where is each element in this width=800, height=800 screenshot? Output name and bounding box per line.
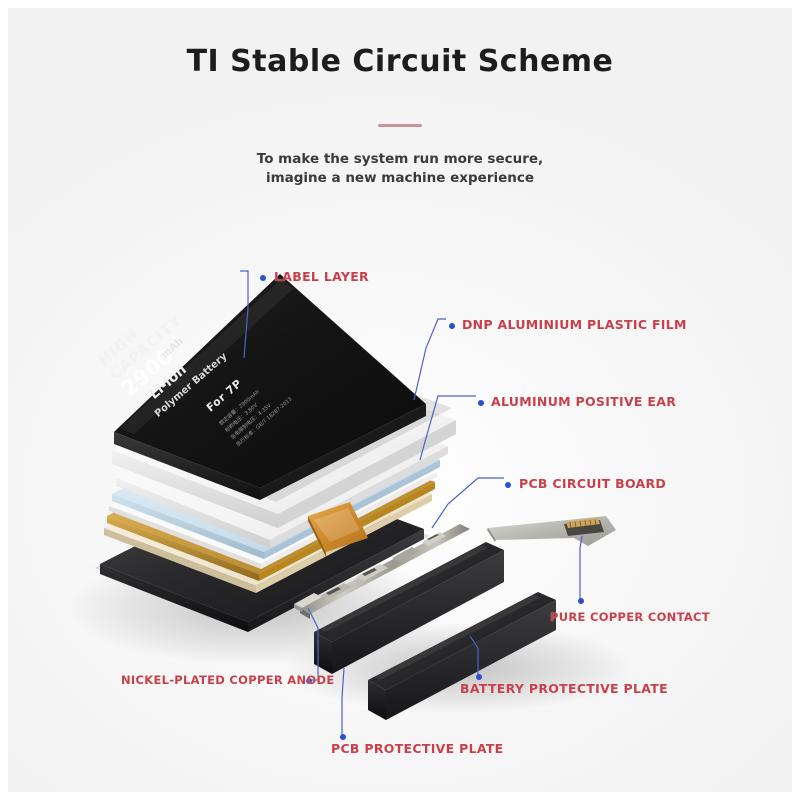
callout-battery-plate[interactable]: BATTERY PROTECTIVE PLATE bbox=[460, 681, 668, 696]
callout-aluminum-ear[interactable]: ALUMINUM POSITIVE EAR bbox=[491, 394, 676, 409]
callout-pure-copper[interactable]: PURE COPPER CONTACT bbox=[550, 610, 710, 624]
leader-pcb-board bbox=[432, 478, 504, 528]
marker-pure-copper bbox=[578, 598, 584, 604]
marker-pcb-plate bbox=[340, 734, 346, 740]
pure-copper-contact bbox=[487, 516, 616, 546]
marker-battery-plate bbox=[476, 674, 482, 680]
callout-pcb-circuit-board[interactable]: PCB CIRCUIT BOARD bbox=[519, 476, 666, 491]
leader-dnp-film bbox=[414, 319, 446, 400]
leader-pure-copper bbox=[580, 536, 582, 600]
callout-label-layer[interactable]: LABEL LAYER bbox=[274, 269, 369, 284]
marker-aluminum-ear bbox=[478, 400, 484, 406]
marker-label-layer bbox=[260, 275, 266, 281]
callout-nickel-anode[interactable]: NICKEL-PLATED COPPER ANODE bbox=[121, 673, 335, 687]
marker-dnp-film bbox=[449, 323, 455, 329]
callout-dnp-film[interactable]: DNP ALUMINIUM PLASTIC FILM bbox=[462, 317, 687, 332]
poster-canvas: TI Stable Circuit Scheme To make the sys… bbox=[8, 8, 792, 792]
marker-pcb-circuit-board bbox=[505, 482, 511, 488]
callout-pcb-plate[interactable]: PCB PROTECTIVE PLATE bbox=[331, 741, 504, 756]
screenshot-root: TI Stable Circuit Scheme To make the sys… bbox=[0, 0, 800, 800]
